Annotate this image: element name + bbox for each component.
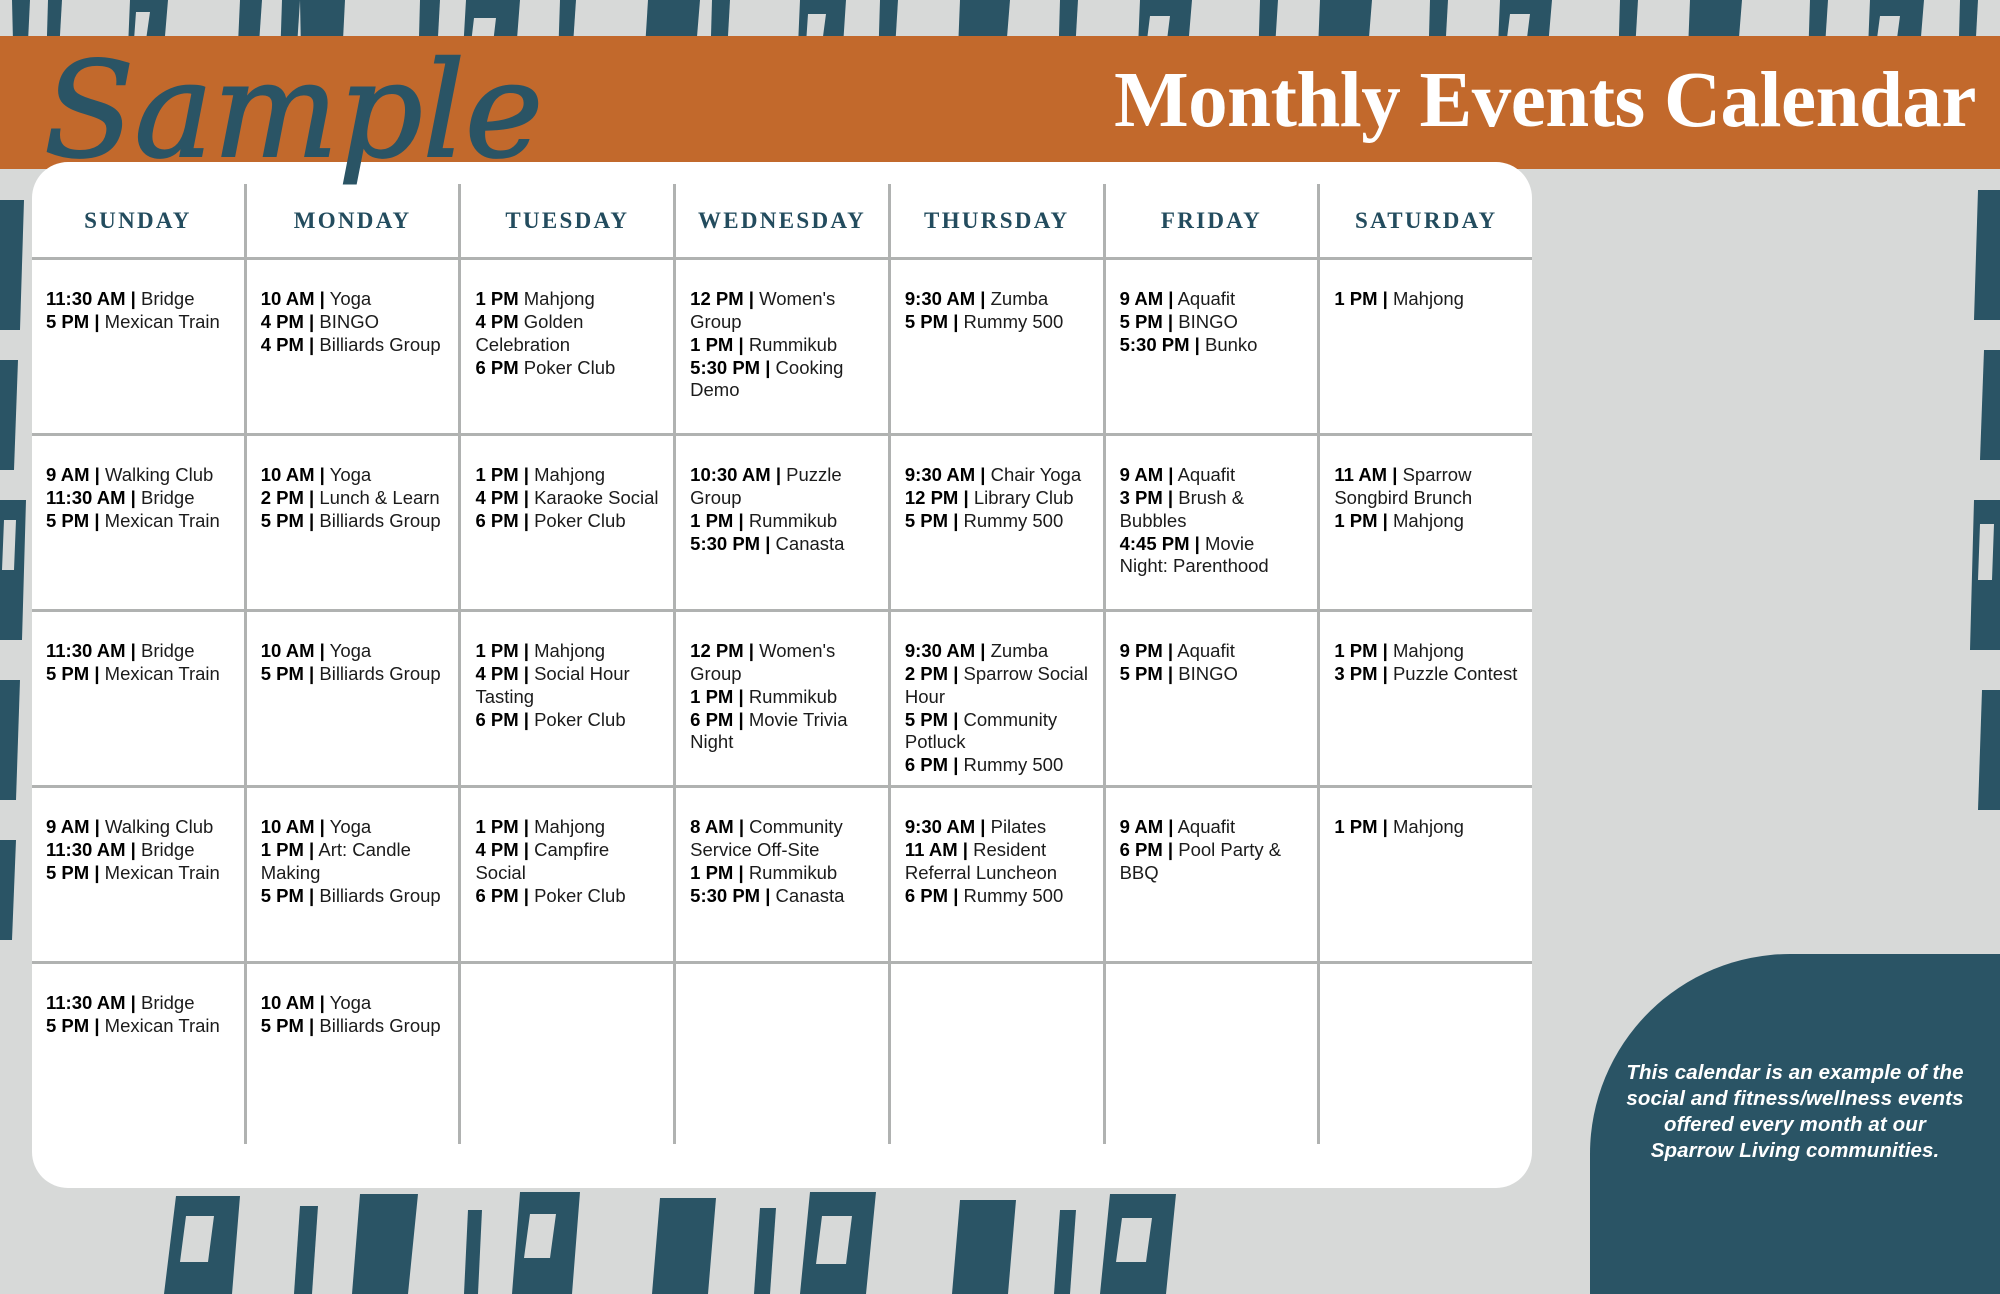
event-entry: 5 PM | Mexican Train xyxy=(46,510,232,533)
event-separator: | xyxy=(953,311,958,332)
event-entry: 5:30 PM | Canasta xyxy=(690,885,876,908)
event-entry: 6 PM | Poker Club xyxy=(475,885,661,908)
event-entry: 5 PM | Billiards Group xyxy=(261,1015,447,1038)
event-entry: 4:45 PM | Movie Night: Parenthood xyxy=(1120,533,1306,578)
day-cell-saturday-week1[interactable]: 1 PM | Mahjong xyxy=(1320,260,1532,433)
event-name: Rummy 500 xyxy=(964,754,1064,775)
event-entry: 12 PM | Women's Group xyxy=(690,640,876,685)
event-entry: 4 PM Golden Celebration xyxy=(475,311,661,356)
event-time: 11:30 AM xyxy=(46,288,126,309)
event-entry: 11:30 AM | Bridge xyxy=(46,839,232,862)
event-name: Bunko xyxy=(1205,334,1257,355)
event-separator: | xyxy=(1383,510,1388,531)
event-name: Mahjong xyxy=(1393,640,1464,661)
event-time: 9:30 AM xyxy=(905,464,975,485)
event-entry: 11:30 AM | Bridge xyxy=(46,992,232,1015)
event-name: Zumba xyxy=(991,640,1049,661)
day-cell-friday-week5[interactable] xyxy=(1106,964,1321,1144)
event-entry: 1 PM | Mahjong xyxy=(1334,510,1520,533)
event-name: Rummy 500 xyxy=(964,510,1064,531)
event-time: 6 PM xyxy=(475,357,518,378)
event-entry: 1 PM | Mahjong xyxy=(475,464,661,487)
event-separator: | xyxy=(963,839,968,860)
event-separator: | xyxy=(1168,464,1173,485)
event-entry: 10 AM | Yoga xyxy=(261,464,447,487)
event-entry: 8 AM | Community Service Off-Site xyxy=(690,816,876,861)
event-entry: 1 PM | Mahjong xyxy=(1334,288,1520,311)
weekday-header-thursday: THURSDAY xyxy=(891,184,1106,257)
event-time: 11 AM xyxy=(1334,464,1387,485)
event-entry: 5 PM | Mexican Train xyxy=(46,1015,232,1038)
event-separator: | xyxy=(309,885,314,906)
event-separator: | xyxy=(131,992,136,1013)
event-name: Rummikub xyxy=(749,334,837,355)
event-entry: 5 PM | Community Potluck xyxy=(905,709,1091,754)
event-separator: | xyxy=(765,357,770,378)
event-time: 1 PM xyxy=(1334,640,1377,661)
event-name: Walking Club xyxy=(105,464,213,485)
day-cell-friday-week1[interactable]: 9 AM | Aquafit5 PM | BINGO5:30 PM | Bunk… xyxy=(1106,260,1321,433)
event-entry: 1 PM | Mahjong xyxy=(1334,816,1520,839)
event-time: 5 PM xyxy=(261,663,304,684)
event-time: 3 PM xyxy=(1120,487,1163,508)
event-entry: 1 PM | Mahjong xyxy=(475,640,661,663)
event-time: 11:30 AM xyxy=(46,487,126,508)
event-time: 4 PM xyxy=(475,487,518,508)
event-time: 1 PM xyxy=(1334,288,1377,309)
event-name: Yoga xyxy=(330,992,372,1013)
event-entry: 5 PM | Mexican Train xyxy=(46,862,232,885)
event-separator: | xyxy=(524,510,529,531)
day-cell-wednesday-week5[interactable] xyxy=(676,964,891,1144)
event-time: 10 AM xyxy=(261,288,315,309)
day-cell-friday-week4[interactable]: 9 AM | Aquafit6 PM | Pool Party & BBQ xyxy=(1106,788,1321,961)
event-separator: | xyxy=(953,510,958,531)
day-cell-sunday-week3[interactable]: 11:30 AM | Bridge5 PM | Mexican Train xyxy=(32,612,247,785)
week-row-3: 11:30 AM | Bridge5 PM | Mexican Train10 … xyxy=(32,612,1532,788)
event-entry: 3 PM | Brush & Bubbles xyxy=(1120,487,1306,532)
event-separator: | xyxy=(524,709,529,730)
day-cell-thursday-week5[interactable] xyxy=(891,964,1106,1144)
event-time: 1 PM xyxy=(475,640,518,661)
event-time: 12 PM xyxy=(690,640,743,661)
event-time: 1 PM xyxy=(261,839,304,860)
event-separator: | xyxy=(738,510,743,531)
event-separator: | xyxy=(309,1015,314,1036)
event-separator: | xyxy=(765,533,770,554)
event-separator: | xyxy=(776,464,781,485)
event-entry: 4 PM | Karaoke Social xyxy=(475,487,661,510)
event-name: Mahjong xyxy=(1393,510,1464,531)
event-time: 5:30 PM xyxy=(690,885,760,906)
event-time: 1 PM xyxy=(475,288,518,309)
event-time: 2 PM xyxy=(905,663,948,684)
event-separator: | xyxy=(95,816,100,837)
event-separator: | xyxy=(953,663,958,684)
event-separator: | xyxy=(131,288,136,309)
event-separator: | xyxy=(953,754,958,775)
event-name: Mahjong xyxy=(1393,816,1464,837)
event-separator: | xyxy=(1383,288,1388,309)
week-row-5: 11:30 AM | Bridge5 PM | Mexican Train10 … xyxy=(32,964,1532,1144)
week-row-4: 9 AM | Walking Club11:30 AM | Bridge5 PM… xyxy=(32,788,1532,964)
event-entry: 1 PM | Mahjong xyxy=(475,816,661,839)
event-name: Rummy 500 xyxy=(964,885,1064,906)
event-name: BINGO xyxy=(319,311,379,332)
day-cell-thursday-week4[interactable]: 9:30 AM | Pilates11 AM | Resident Referr… xyxy=(891,788,1106,961)
event-time: 11:30 AM xyxy=(46,992,126,1013)
event-entry: 9:30 AM | Zumba xyxy=(905,640,1091,663)
event-time: 6 PM xyxy=(475,510,518,531)
event-name: Yoga xyxy=(330,464,372,485)
weeks-container: 11:30 AM | Bridge5 PM | Mexican Train10 … xyxy=(32,260,1532,1144)
week-row-1: 11:30 AM | Bridge5 PM | Mexican Train10 … xyxy=(32,260,1532,436)
event-separator: | xyxy=(963,487,968,508)
event-entry: 10:30 AM | Puzzle Group xyxy=(690,464,876,509)
event-time: 1 PM xyxy=(690,334,733,355)
event-separator: | xyxy=(1195,334,1200,355)
event-name: Puzzle Contest xyxy=(1393,663,1517,684)
event-entry: 5 PM | Rummy 500 xyxy=(905,311,1091,334)
event-time: 10 AM xyxy=(261,640,315,661)
event-entry: 5 PM | BINGO xyxy=(1120,311,1306,334)
event-separator: | xyxy=(524,816,529,837)
event-name: Rummy 500 xyxy=(964,311,1064,332)
event-name: Rummikub xyxy=(749,686,837,707)
event-entry: 11 AM | Resident Referral Luncheon xyxy=(905,839,1091,884)
event-separator: | xyxy=(94,663,99,684)
event-entry: 2 PM | Sparrow Social Hour xyxy=(905,663,1091,708)
event-time: 4 PM xyxy=(261,334,304,355)
event-entry: 5 PM | Mexican Train xyxy=(46,311,232,334)
day-cell-wednesday-week4[interactable]: 8 AM | Community Service Off-Site1 PM | … xyxy=(676,788,891,961)
event-name: Aquafit xyxy=(1178,816,1236,837)
event-separator: | xyxy=(131,487,136,508)
weekday-header-wednesday: WEDNESDAY xyxy=(676,184,891,257)
event-entry: 9 PM | Aquafit xyxy=(1120,640,1306,663)
event-time: 6 PM xyxy=(1120,839,1163,860)
event-name: Mahjong xyxy=(534,464,605,485)
day-cell-monday-week5[interactable]: 10 AM | Yoga5 PM | Billiards Group xyxy=(247,964,462,1144)
event-name: Chair Yoga xyxy=(991,464,1082,485)
event-time: 4:45 PM xyxy=(1120,533,1190,554)
event-entry: 11 AM | Sparrow Songbird Brunch xyxy=(1334,464,1520,509)
event-time: 11:30 AM xyxy=(46,839,126,860)
day-cell-monday-week3[interactable]: 10 AM | Yoga5 PM | Billiards Group xyxy=(247,612,462,785)
event-time: 5 PM xyxy=(905,311,948,332)
event-entry: 1 PM | Rummikub xyxy=(690,334,876,357)
day-cell-tuesday-week5[interactable] xyxy=(461,964,676,1144)
event-separator: | xyxy=(524,487,529,508)
event-name: Mahjong xyxy=(1393,288,1464,309)
event-separator: | xyxy=(320,816,325,837)
event-time: 1 PM xyxy=(1334,816,1377,837)
event-time: 10:30 AM xyxy=(690,464,771,485)
event-entry: 9:30 AM | Zumba xyxy=(905,288,1091,311)
event-name: Aquafit xyxy=(1178,288,1236,309)
event-separator: | xyxy=(309,663,314,684)
day-cell-sunday-week2[interactable]: 9 AM | Walking Club11:30 AM | Bridge5 PM… xyxy=(32,436,247,609)
sample-script-word: Sample xyxy=(34,16,654,206)
event-time: 1 PM xyxy=(475,816,518,837)
event-time: 12 PM xyxy=(690,288,743,309)
event-time: 12 PM xyxy=(905,487,958,508)
weekday-header-friday: FRIDAY xyxy=(1106,184,1321,257)
day-cell-thursday-week2[interactable]: 9:30 AM | Chair Yoga12 PM | Library Club… xyxy=(891,436,1106,609)
event-time: 9 AM xyxy=(1120,288,1164,309)
event-time: 9:30 AM xyxy=(905,816,975,837)
event-time: 5 PM xyxy=(905,510,948,531)
event-name: Lunch & Learn xyxy=(319,487,439,508)
day-cell-saturday-week5[interactable] xyxy=(1320,964,1532,1144)
event-separator: | xyxy=(749,640,754,661)
event-separator: | xyxy=(1168,663,1173,684)
event-time: 5:30 PM xyxy=(1120,334,1190,355)
event-time: 5 PM xyxy=(905,709,948,730)
event-time: 9 AM xyxy=(1120,816,1164,837)
event-entry: 5 PM | Billiards Group xyxy=(261,663,447,686)
event-time: 5 PM xyxy=(1120,663,1163,684)
event-name: Zumba xyxy=(991,288,1049,309)
event-separator: | xyxy=(1383,816,1388,837)
event-name: Poker Club xyxy=(524,357,616,378)
day-cell-thursday-week1[interactable]: 9:30 AM | Zumba5 PM | Rummy 500 xyxy=(891,260,1106,433)
day-cell-friday-week3[interactable]: 9 PM | Aquafit5 PM | BINGO xyxy=(1106,612,1321,785)
day-cell-wednesday-week2[interactable]: 10:30 AM | Puzzle Group1 PM | Rummikub5:… xyxy=(676,436,891,609)
event-separator: | xyxy=(1168,816,1173,837)
day-cell-monday-week1[interactable]: 10 AM | Yoga4 PM | BINGO4 PM | Billiards… xyxy=(247,260,462,433)
event-entry: 10 AM | Yoga xyxy=(261,640,447,663)
event-entry: 6 PM | Pool Party & BBQ xyxy=(1120,839,1306,884)
day-cell-thursday-week3[interactable]: 9:30 AM | Zumba2 PM | Sparrow Social Hou… xyxy=(891,612,1106,785)
event-name: Bridge xyxy=(141,839,194,860)
event-time: 5:30 PM xyxy=(690,357,760,378)
event-time: 6 PM xyxy=(475,709,518,730)
event-separator: | xyxy=(1195,533,1200,554)
day-cell-monday-week4[interactable]: 10 AM | Yoga1 PM | Art: Candle Making5 P… xyxy=(247,788,462,961)
event-name: Library Club xyxy=(974,487,1074,508)
event-time: 6 PM xyxy=(690,709,733,730)
event-entry: 2 PM | Lunch & Learn xyxy=(261,487,447,510)
event-entry: 4 PM | BINGO xyxy=(261,311,447,334)
event-time: 6 PM xyxy=(905,885,948,906)
event-name: Mexican Train xyxy=(105,663,220,684)
event-time: 5 PM xyxy=(261,885,304,906)
event-time: 11 AM xyxy=(905,839,958,860)
event-entry: 11:30 AM | Bridge xyxy=(46,288,232,311)
event-entry: 5 PM | Mexican Train xyxy=(46,663,232,686)
event-time: 6 PM xyxy=(475,885,518,906)
event-separator: | xyxy=(94,1015,99,1036)
event-time: 3 PM xyxy=(1334,663,1377,684)
event-entry: 9 AM | Aquafit xyxy=(1120,288,1306,311)
event-time: 9 AM xyxy=(1120,464,1164,485)
event-time: 5 PM xyxy=(1120,311,1163,332)
event-entry: 1 PM | Rummikub xyxy=(690,862,876,885)
sample-script-text: Sample xyxy=(44,34,543,188)
event-time: 4 PM xyxy=(475,311,518,332)
page-title: Monthly Events Calendar xyxy=(576,46,1976,156)
event-name: Rummikub xyxy=(749,862,837,883)
event-entry: 4 PM | Social Hour Tasting xyxy=(475,663,661,708)
event-separator: | xyxy=(309,311,314,332)
callout-text: This calendar is an example of the socia… xyxy=(1624,1060,1966,1164)
event-entry: 9 AM | Walking Club xyxy=(46,816,232,839)
day-cell-friday-week2[interactable]: 9 AM | Aquafit3 PM | Brush & Bubbles4:45… xyxy=(1106,436,1321,609)
event-time: 9 AM xyxy=(46,464,90,485)
event-separator: | xyxy=(131,640,136,661)
event-separator: | xyxy=(738,862,743,883)
event-name: Aquafit xyxy=(1178,464,1236,485)
event-time: 5 PM xyxy=(46,862,89,883)
event-name: Mexican Train xyxy=(105,510,220,531)
event-name: Bridge xyxy=(141,640,194,661)
event-separator: | xyxy=(309,487,314,508)
event-time: 5 PM xyxy=(46,311,89,332)
week-row-2: 9 AM | Walking Club11:30 AM | Bridge5 PM… xyxy=(32,436,1532,612)
day-cell-monday-week2[interactable]: 10 AM | Yoga2 PM | Lunch & Learn5 PM | B… xyxy=(247,436,462,609)
day-cell-saturday-week3[interactable]: 1 PM | Mahjong3 PM | Puzzle Contest xyxy=(1320,612,1532,785)
event-entry: 10 AM | Yoga xyxy=(261,816,447,839)
day-cell-saturday-week4[interactable]: 1 PM | Mahjong xyxy=(1320,788,1532,961)
day-cell-tuesday-week1[interactable]: 1 PM Mahjong4 PM Golden Celebration6 PM … xyxy=(461,260,676,433)
day-cell-wednesday-week3[interactable]: 12 PM | Women's Group1 PM | Rummikub6 PM… xyxy=(676,612,891,785)
event-separator: | xyxy=(953,709,958,730)
event-separator: | xyxy=(309,334,314,355)
event-time: 11:30 AM xyxy=(46,640,126,661)
event-entry: 9:30 AM | Chair Yoga xyxy=(905,464,1091,487)
event-time: 1 PM xyxy=(690,862,733,883)
event-separator: | xyxy=(320,992,325,1013)
event-time: 5:30 PM xyxy=(690,533,760,554)
day-cell-wednesday-week1[interactable]: 12 PM | Women's Group1 PM | Rummikub5:30… xyxy=(676,260,891,433)
event-separator: | xyxy=(309,839,314,860)
event-name: Pilates xyxy=(991,816,1047,837)
event-entry: 9:30 AM | Pilates xyxy=(905,816,1091,839)
event-name: Mexican Train xyxy=(105,311,220,332)
event-separator: | xyxy=(1168,640,1173,661)
event-name: Bridge xyxy=(141,487,194,508)
event-separator: | xyxy=(320,464,325,485)
event-name: Poker Club xyxy=(534,885,626,906)
event-entry: 4 PM | Billiards Group xyxy=(261,334,447,357)
event-name: Billiards Group xyxy=(319,1015,440,1036)
event-separator: | xyxy=(131,839,136,860)
event-time: 8 AM xyxy=(690,816,734,837)
day-cell-sunday-week5[interactable]: 11:30 AM | Bridge5 PM | Mexican Train xyxy=(32,964,247,1144)
event-name: Yoga xyxy=(330,640,372,661)
event-separator: | xyxy=(738,334,743,355)
event-time: 5 PM xyxy=(46,663,89,684)
event-entry: 9 AM | Walking Club xyxy=(46,464,232,487)
event-separator: | xyxy=(524,663,529,684)
event-time: 10 AM xyxy=(261,464,315,485)
event-entry: 5 PM | Billiards Group xyxy=(261,885,447,908)
event-separator: | xyxy=(524,464,529,485)
event-entry: 12 PM | Library Club xyxy=(905,487,1091,510)
event-separator: | xyxy=(739,816,744,837)
event-entry: 4 PM | Campfire Social xyxy=(475,839,661,884)
event-name: Aquafit xyxy=(1177,640,1235,661)
event-entry: 5:30 PM | Canasta xyxy=(690,533,876,556)
event-name: Billiards Group xyxy=(319,885,440,906)
event-name: Walking Club xyxy=(105,816,213,837)
event-name: Poker Club xyxy=(534,510,626,531)
event-entry: 1 PM | Mahjong xyxy=(1334,640,1520,663)
day-cell-sunday-week1[interactable]: 11:30 AM | Bridge5 PM | Mexican Train xyxy=(32,260,247,433)
day-cell-sunday-week4[interactable]: 9 AM | Walking Club11:30 AM | Bridge5 PM… xyxy=(32,788,247,961)
event-time: 5 PM xyxy=(261,1015,304,1036)
event-entry: 5 PM | BINGO xyxy=(1120,663,1306,686)
event-entry: 1 PM | Rummikub xyxy=(690,686,876,709)
event-separator: | xyxy=(309,510,314,531)
event-separator: | xyxy=(94,862,99,883)
event-separator: | xyxy=(1168,839,1173,860)
event-time: 10 AM xyxy=(261,816,315,837)
event-separator: | xyxy=(1392,464,1397,485)
day-cell-saturday-week2[interactable]: 11 AM | Sparrow Songbird Brunch1 PM | Ma… xyxy=(1320,436,1532,609)
event-separator: | xyxy=(980,816,985,837)
event-entry: 3 PM | Puzzle Contest xyxy=(1334,663,1520,686)
day-cell-tuesday-week3[interactable]: 1 PM | Mahjong4 PM | Social Hour Tasting… xyxy=(461,612,676,785)
event-entry: 11:30 AM | Bridge xyxy=(46,487,232,510)
event-name: Billiards Group xyxy=(319,510,440,531)
event-time: 1 PM xyxy=(475,464,518,485)
event-time: 1 PM xyxy=(1334,510,1377,531)
event-separator: | xyxy=(1383,640,1388,661)
event-time: 5 PM xyxy=(261,510,304,531)
event-entry: 1 PM | Rummikub xyxy=(690,510,876,533)
event-entry: 10 AM | Yoga xyxy=(261,288,447,311)
event-separator: | xyxy=(1168,288,1173,309)
event-entry: 9 AM | Aquafit xyxy=(1120,464,1306,487)
event-time: 5 PM xyxy=(46,1015,89,1036)
event-separator: | xyxy=(1383,663,1388,684)
event-time: 10 AM xyxy=(261,992,315,1013)
event-separator: | xyxy=(953,885,958,906)
event-time: 9:30 AM xyxy=(905,640,975,661)
event-name: Bridge xyxy=(141,288,194,309)
event-entry: 5:30 PM | Bunko xyxy=(1120,334,1306,357)
event-separator: | xyxy=(94,311,99,332)
day-cell-tuesday-week2[interactable]: 1 PM | Mahjong4 PM | Karaoke Social6 PM … xyxy=(461,436,676,609)
event-name: Karaoke Social xyxy=(534,487,658,508)
event-time: 6 PM xyxy=(905,754,948,775)
event-time: 4 PM xyxy=(475,839,518,860)
event-entry: 6 PM | Poker Club xyxy=(475,510,661,533)
event-separator: | xyxy=(320,640,325,661)
event-time: 9 AM xyxy=(46,816,90,837)
event-entry: 11:30 AM | Bridge xyxy=(46,640,232,663)
event-entry: 5 PM | Rummy 500 xyxy=(905,510,1091,533)
event-name: Yoga xyxy=(330,816,372,837)
event-entry: 1 PM Mahjong xyxy=(475,288,661,311)
event-separator: | xyxy=(738,686,743,707)
event-name: Billiards Group xyxy=(319,334,440,355)
event-time: 9:30 AM xyxy=(905,288,975,309)
event-time: 1 PM xyxy=(690,686,733,707)
event-name: Bridge xyxy=(141,992,194,1013)
event-name: BINGO xyxy=(1178,311,1238,332)
day-cell-tuesday-week4[interactable]: 1 PM | Mahjong4 PM | Campfire Social6 PM… xyxy=(461,788,676,961)
event-time: 4 PM xyxy=(261,311,304,332)
event-name: BINGO xyxy=(1178,663,1238,684)
event-time: 2 PM xyxy=(261,487,304,508)
event-separator: | xyxy=(749,288,754,309)
event-entry: 6 PM | Poker Club xyxy=(475,709,661,732)
event-name: Mexican Train xyxy=(105,862,220,883)
event-name: Yoga xyxy=(330,288,372,309)
